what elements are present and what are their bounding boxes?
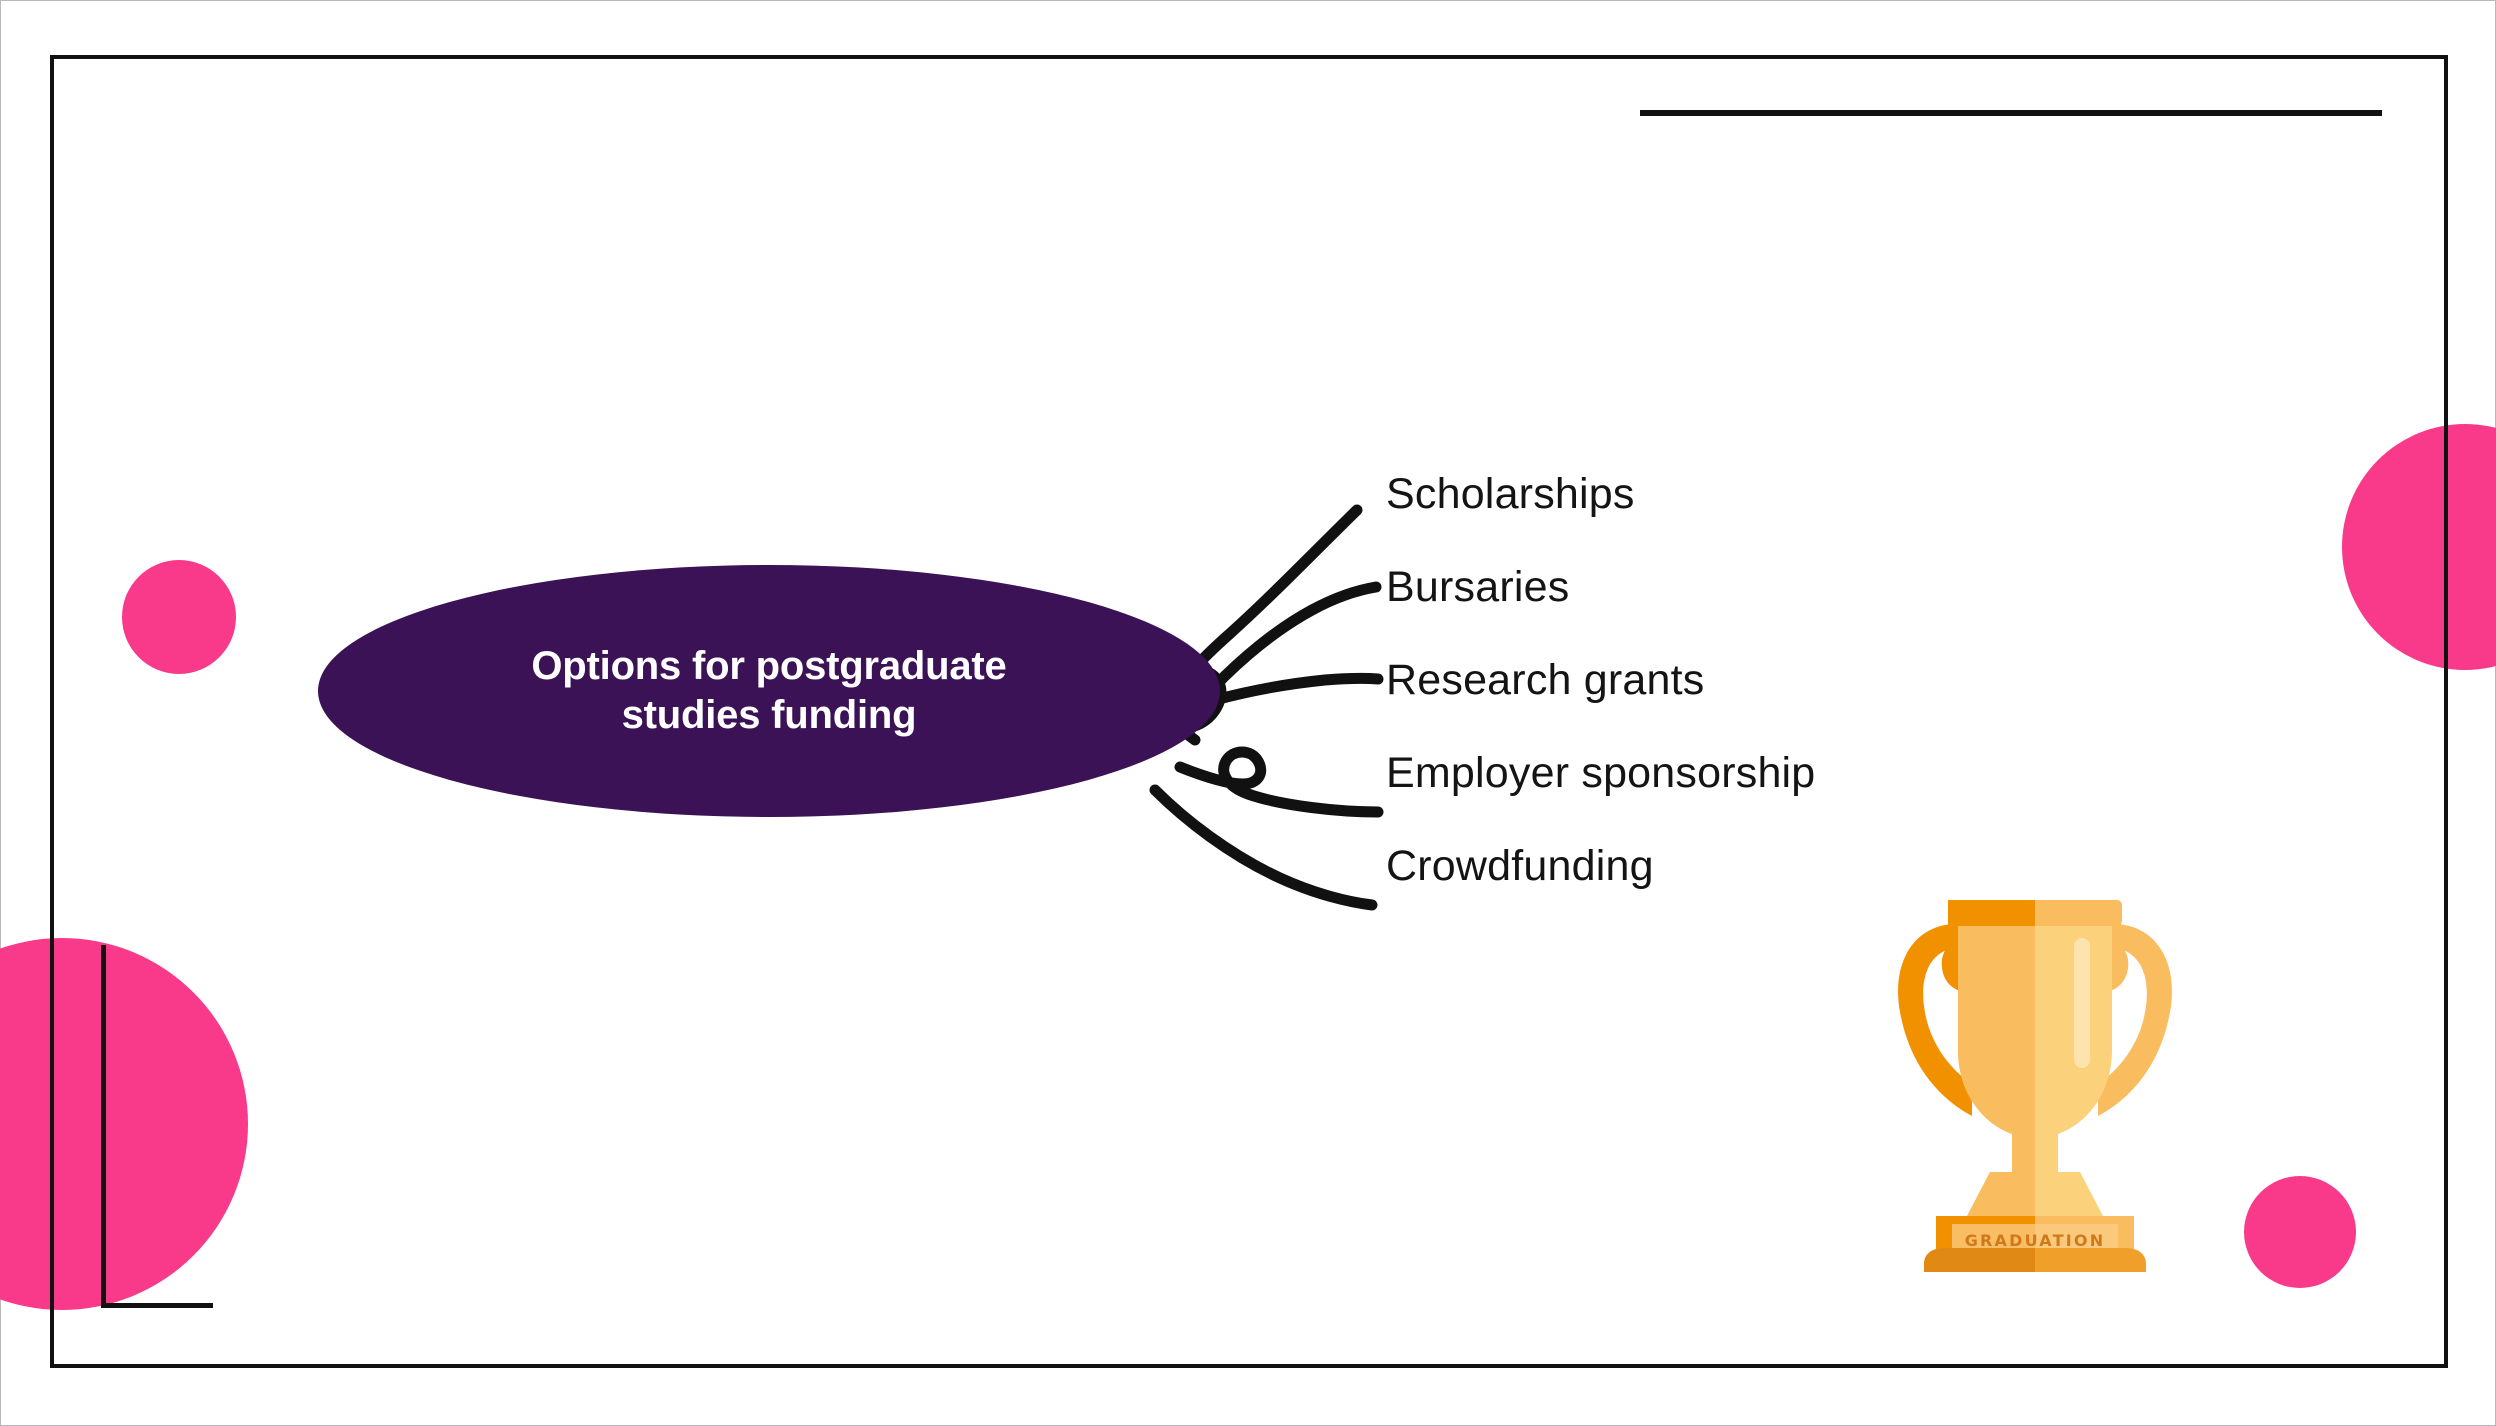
trophy-foot-shade [1924, 1248, 2035, 1272]
trophy-plaque-text: GRADUATION [1890, 1231, 2180, 1250]
hub-title: Options for postgraduate studies funding [439, 642, 1099, 740]
branch-label-research-grants[interactable]: Research grants [1386, 659, 1705, 702]
branch-label-crowdfunding[interactable]: Crowdfunding [1386, 845, 1654, 888]
trophy-rim-shade [1948, 900, 2035, 926]
accent-rule-top-right [1640, 110, 2382, 116]
decorative-circle-top-left [122, 560, 236, 674]
branch-label-employer-sponsorship[interactable]: Employer sponsorship [1386, 752, 1815, 795]
slide-canvas: Options for postgraduate studies funding… [0, 0, 2496, 1426]
decorative-circle-bottom-right [2244, 1176, 2356, 1288]
mindmap-hub[interactable]: Options for postgraduate studies funding [318, 565, 1220, 817]
branch-label-scholarships[interactable]: Scholarships [1386, 473, 1635, 516]
branch-label-bursaries[interactable]: Bursaries [1386, 566, 1569, 609]
trophy-highlight [2074, 938, 2090, 1068]
corner-bracket-vertical [101, 945, 106, 1308]
corner-bracket-horizontal [101, 1303, 213, 1308]
trophy-icon [1890, 872, 2180, 1292]
hub-title-line-2: studies funding [622, 693, 917, 737]
trophy-flare-shade [1966, 1172, 2035, 1218]
hub-title-line-1: Options for postgraduate [531, 644, 1006, 688]
trophy-illustration: GRADUATION [1890, 872, 2180, 1292]
